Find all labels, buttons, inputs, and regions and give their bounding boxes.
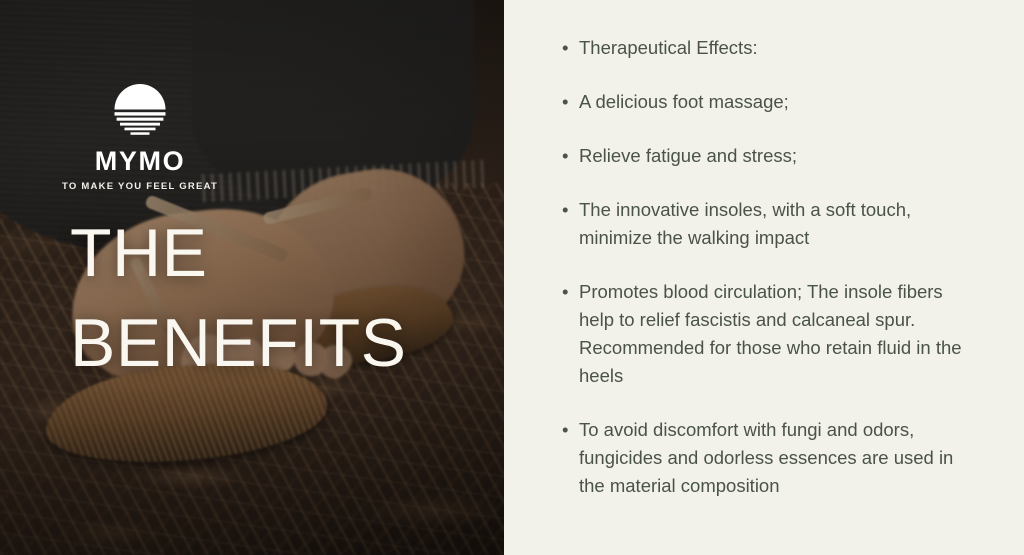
- benefit-text: To avoid discomfort with fungi and odors…: [579, 419, 953, 496]
- hero-photo-panel: MYMO TO MAKE YOU FEEL GREAT THE BENEFITS: [0, 0, 504, 555]
- brand-wordmark: MYMO: [0, 148, 280, 175]
- benefit-list-item: •A delicious foot massage;: [562, 88, 977, 116]
- benefits-list: •Therapeutical Effects:•A delicious foot…: [562, 34, 994, 500]
- benefit-text: Therapeutical Effects:: [579, 37, 758, 58]
- benefit-text: A delicious foot massage;: [579, 91, 789, 112]
- benefit-list-item: •The innovative insoles, with a soft tou…: [562, 196, 977, 252]
- benefits-content-panel: •Therapeutical Effects:•A delicious foot…: [504, 0, 1024, 555]
- benefit-list-item: •Promotes blood circulation; The insole …: [562, 278, 977, 390]
- bullet-icon: •: [562, 278, 568, 306]
- benefit-text: The innovative insoles, with a soft touc…: [579, 199, 911, 248]
- benefit-list-item: •To avoid discomfort with fungi and odor…: [562, 416, 977, 500]
- bullet-icon: •: [562, 142, 568, 170]
- bullet-icon: •: [562, 34, 568, 62]
- benefit-text: Relieve fatigue and stress;: [579, 145, 797, 166]
- sunset-logo-icon: [109, 84, 171, 140]
- page-title: THE BENEFITS: [70, 208, 407, 389]
- page-title-line-2: BENEFITS: [70, 298, 407, 388]
- benefit-text: Promotes blood circulation; The insole f…: [579, 281, 962, 386]
- benefits-slide: MYMO TO MAKE YOU FEEL GREAT THE BENEFITS…: [0, 0, 1024, 555]
- page-title-line-1: THE: [70, 208, 407, 298]
- brand-tagline: TO MAKE YOU FEEL GREAT: [0, 182, 280, 192]
- bullet-icon: •: [562, 416, 568, 444]
- brand-logo-lockup: MYMO TO MAKE YOU FEEL GREAT: [0, 84, 280, 192]
- benefit-list-item: •Relieve fatigue and stress;: [562, 142, 977, 170]
- bullet-icon: •: [562, 196, 568, 224]
- bullet-icon: •: [562, 88, 568, 116]
- benefit-list-item: •Therapeutical Effects:: [562, 34, 977, 62]
